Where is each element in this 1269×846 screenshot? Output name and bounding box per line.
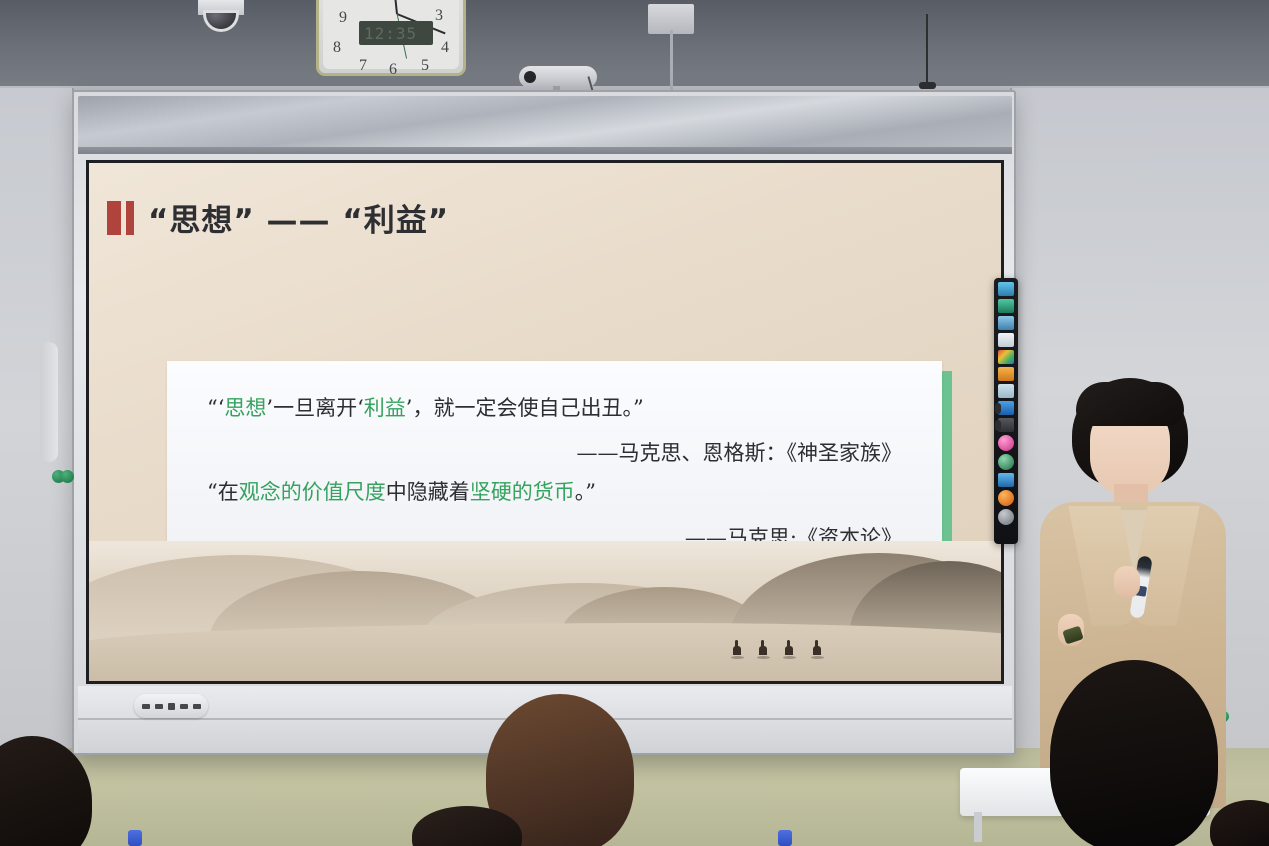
quote-highlight-segment: 坚硬的货币 <box>470 480 575 504</box>
green-magnet <box>61 470 74 483</box>
classroom-scene: 8 9 3 4 5 6 7 12:35 “思想” —— <box>0 0 1269 846</box>
board-top-bezel <box>78 96 1012 154</box>
quote-highlight-segment: 利益 <box>364 396 406 420</box>
clock-time-value: 12:35 <box>364 24 417 43</box>
water-bottle-icon <box>778 830 792 846</box>
student-head <box>0 736 92 846</box>
image-viewer-icon[interactable] <box>998 384 1014 398</box>
quote-text-segment: 。” <box>575 480 596 504</box>
volume-button-icon[interactable] <box>180 704 188 709</box>
browser-icon[interactable] <box>998 435 1014 451</box>
projected-slide: “思想” —— “利益” “‘思想’一旦离开‘利益’，就一定会使自己出丑。” —… <box>86 160 1004 684</box>
wall-clock: 8 9 3 4 5 6 7 12:35 <box>316 0 466 76</box>
settings-gear-icon[interactable] <box>998 509 1014 525</box>
clock-digital-display: 12:35 <box>359 21 433 45</box>
usb-port-icon[interactable] <box>193 704 201 709</box>
display-screen-icon[interactable] <box>998 282 1014 296</box>
quote-line-1: “‘思想’一旦离开‘利益’，就一定会使自己出丑。” <box>207 395 902 421</box>
quote-line-2: “在观念的价值尺度中隐藏着坚硬的货币。” <box>207 479 902 505</box>
user-profile-icon[interactable] <box>998 299 1014 313</box>
water-bottle-icon <box>128 830 142 846</box>
interactive-whiteboard[interactable]: “思想” —— “利益” “‘思想’一旦离开‘利益’，就一定会使自己出丑。” —… <box>72 90 1016 755</box>
quote-text-segment: ’，就一定会使自己出丑。” <box>406 396 644 420</box>
quote-highlight-segment: 观念的价值尺度 <box>239 480 386 504</box>
power-button-icon[interactable] <box>142 704 150 709</box>
pen-tray[interactable] <box>40 342 58 462</box>
wall-camera-icon <box>519 66 597 88</box>
quote-highlight-segment: 思想 <box>224 396 266 420</box>
input-button-icon[interactable] <box>155 704 163 709</box>
wall-panel-left <box>0 88 74 748</box>
photo-gallery-icon[interactable] <box>998 316 1014 330</box>
document-icon[interactable] <box>998 333 1014 347</box>
board-control-panel[interactable] <box>134 694 208 718</box>
ceiling-mount-rod <box>670 30 673 90</box>
presenter-fringe <box>1076 382 1184 426</box>
dome-security-camera-icon <box>198 0 244 38</box>
antenna-icon <box>926 14 928 86</box>
quote-text-segment: “在 <box>207 480 239 504</box>
desert-dunes-image <box>89 541 1004 681</box>
quote-text-segment: 中隐藏着 <box>386 480 470 504</box>
media-player-icon[interactable] <box>998 454 1014 470</box>
quote-attribution-1: ——马克思、恩格斯：《神圣家族》 <box>207 437 902 467</box>
calendar-icon[interactable] <box>998 401 1014 415</box>
slide-title: “思想” —— “利益” <box>148 195 449 240</box>
ceiling <box>0 0 1269 96</box>
presenter-hand-right <box>1114 566 1140 598</box>
monitor-cast-icon[interactable] <box>998 473 1014 487</box>
student-head <box>412 806 522 846</box>
slide-title-row: “思想” —— “利益” <box>107 195 449 240</box>
search-icon[interactable] <box>998 490 1014 506</box>
menu-button-icon[interactable] <box>168 703 175 710</box>
whiteboard-app-dock[interactable] <box>994 278 1018 544</box>
more-options-icon[interactable] <box>998 418 1014 432</box>
quote-text-segment: “‘ <box>207 396 224 420</box>
student-head <box>1050 660 1218 846</box>
student-head <box>1210 800 1269 846</box>
presentation-icon[interactable] <box>998 367 1014 381</box>
quote-text-segment: ’一旦离开‘ <box>266 396 363 420</box>
color-palette-icon[interactable] <box>998 350 1014 364</box>
title-accent-bars-icon <box>107 201 134 235</box>
